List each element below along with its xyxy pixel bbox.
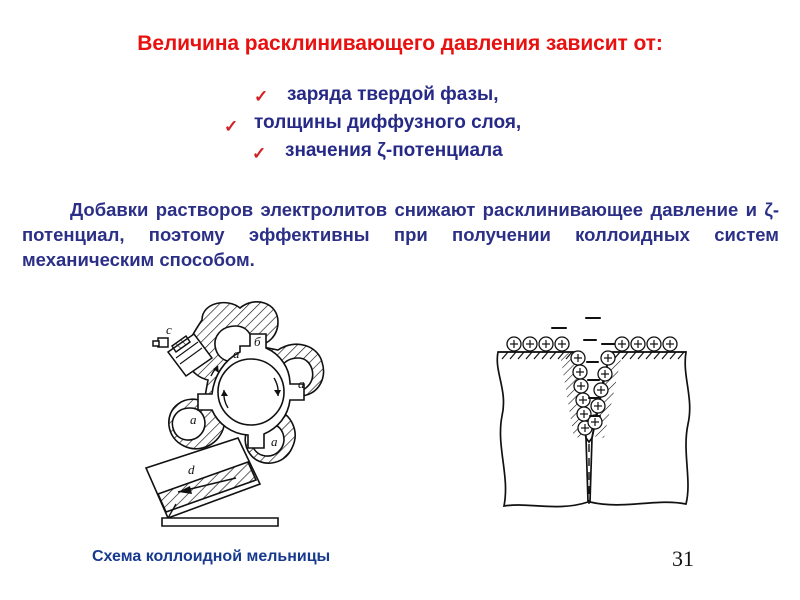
label-a: a	[271, 434, 278, 449]
list-item-label: значения ζ-потенциала	[285, 140, 503, 162]
label-a: a	[190, 412, 197, 427]
page-title: Величина расклинивающего давления зависи…	[0, 32, 800, 56]
label-a: a	[233, 346, 240, 361]
list-item-label: заряда твердой фазы,	[287, 84, 499, 106]
mill-discharge-chute	[146, 438, 278, 526]
paragraph-text: Добавки растворов электролитов снижают р…	[22, 199, 779, 270]
list-item: ✓ заряда твердой фазы,	[0, 84, 800, 112]
checkmark-icon: ✓	[224, 118, 238, 135]
checkmark-icon: ✓	[254, 88, 268, 105]
checkmark-icon: ✓	[252, 145, 266, 162]
list-item: ✓ толщины диффузного слоя,	[0, 112, 800, 140]
page-number: 31	[672, 546, 694, 572]
colloid-mill-figure: a a a a б c d	[128, 296, 360, 538]
list-item-label: толщины диффузного слоя,	[254, 112, 521, 134]
slide-canvas: Величина расклинивающего давления зависи…	[0, 0, 800, 600]
bullet-list: ✓ заряда твердой фазы, ✓ толщины диффузн…	[0, 84, 800, 168]
label-a: a	[298, 376, 305, 391]
label-b: б	[254, 334, 261, 349]
wedge-crack-figure	[488, 306, 700, 522]
figure-caption: Схема коллоидной мельницы	[92, 548, 330, 566]
body-paragraph: Добавки растворов электролитов снижают р…	[22, 197, 779, 272]
list-item: ✓ значения ζ-потенциала	[0, 140, 800, 168]
label-d: d	[188, 462, 195, 477]
label-c: c	[166, 322, 172, 337]
